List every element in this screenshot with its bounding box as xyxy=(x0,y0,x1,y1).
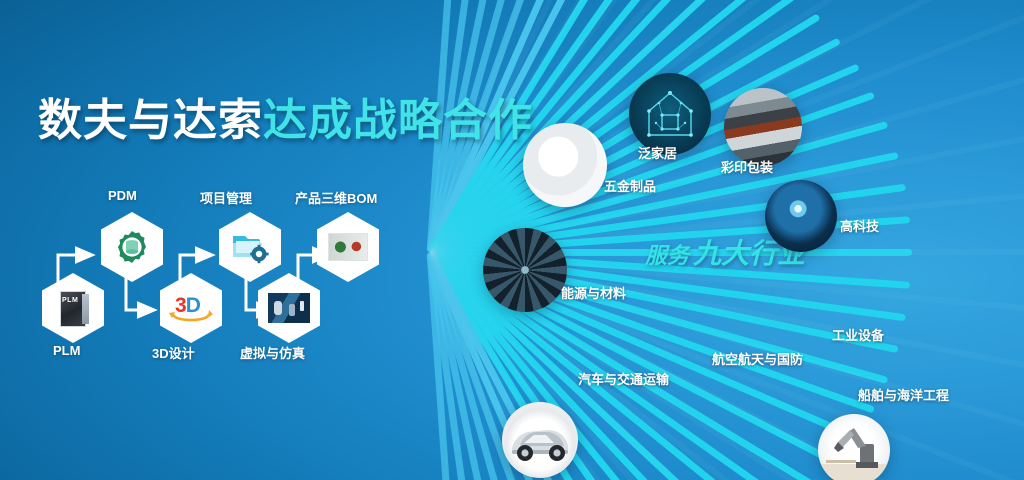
industry-label-printing: 彩印包装 xyxy=(721,157,773,176)
3d-logo-arrows xyxy=(169,305,213,325)
industry-label-materials: 能源与材料 xyxy=(561,283,626,302)
server-tower-label: PLM xyxy=(62,297,78,304)
industry-label-hardware: 五金制品 xyxy=(604,176,656,195)
industry-icon-materials[interactable] xyxy=(483,228,567,312)
industry-icon-printing[interactable] xyxy=(724,88,802,166)
industry-label-aerospace: 航空航天与国防 xyxy=(712,349,803,368)
flow-label-pdm: PDM xyxy=(108,188,137,203)
industry-label-automotive: 汽车与交通运输 xyxy=(578,369,669,388)
assembly-3d-icon xyxy=(328,233,368,261)
industry-icon-automotive[interactable] xyxy=(502,402,578,478)
server-tower-side xyxy=(82,294,89,324)
server-tower-icon: PLM xyxy=(56,289,90,327)
flow-node-pdm-icon-wrap xyxy=(106,218,158,277)
industry-icon-hardware[interactable] xyxy=(523,123,607,207)
industry-label-marine: 船舶与海洋工程 xyxy=(858,385,949,404)
flow-label-bom: 产品三维BOM xyxy=(295,188,377,207)
flow-node-pm-icon-wrap xyxy=(224,218,276,277)
industry-icon-equipment[interactable] xyxy=(818,414,890,480)
flow-label-project-management: 项目管理 xyxy=(200,188,252,207)
plm-flow-diagram: PLM PLM PDM 3D xyxy=(0,0,430,480)
car-photo xyxy=(502,402,578,478)
flow-label-3d: 3D设计 xyxy=(152,343,195,362)
flow-node-plm-icon-wrap: PLM xyxy=(47,279,99,338)
flow-node-sim-icon-wrap xyxy=(263,279,315,338)
industry-label-equipment: 工业设备 xyxy=(832,325,884,344)
flow-label-simulation: 虚拟与仿真 xyxy=(240,343,305,362)
ray-line xyxy=(427,252,460,480)
flow-node-bom-icon-wrap xyxy=(322,218,374,277)
3d-logo-icon: 3D xyxy=(169,291,213,325)
folder-gear-icon xyxy=(231,230,269,264)
robot-arm-photo xyxy=(818,414,890,480)
banner-stage: 数夫与达索达成战略合作 服务九大行业 xyxy=(0,0,1024,480)
industry-label-hitech: 高科技 xyxy=(840,216,879,235)
slogan-small-text: 服务 xyxy=(645,243,689,268)
flow-node-3d-icon-wrap: 3D xyxy=(165,279,217,338)
flow-label-plm: PLM xyxy=(53,343,80,358)
industry-icon-hitech[interactable] xyxy=(765,180,837,252)
gear-database-icon xyxy=(114,229,150,265)
industry-label-home: 泛家居 xyxy=(638,143,677,162)
ray-line xyxy=(427,252,487,480)
simulation-photo-icon xyxy=(268,293,310,323)
